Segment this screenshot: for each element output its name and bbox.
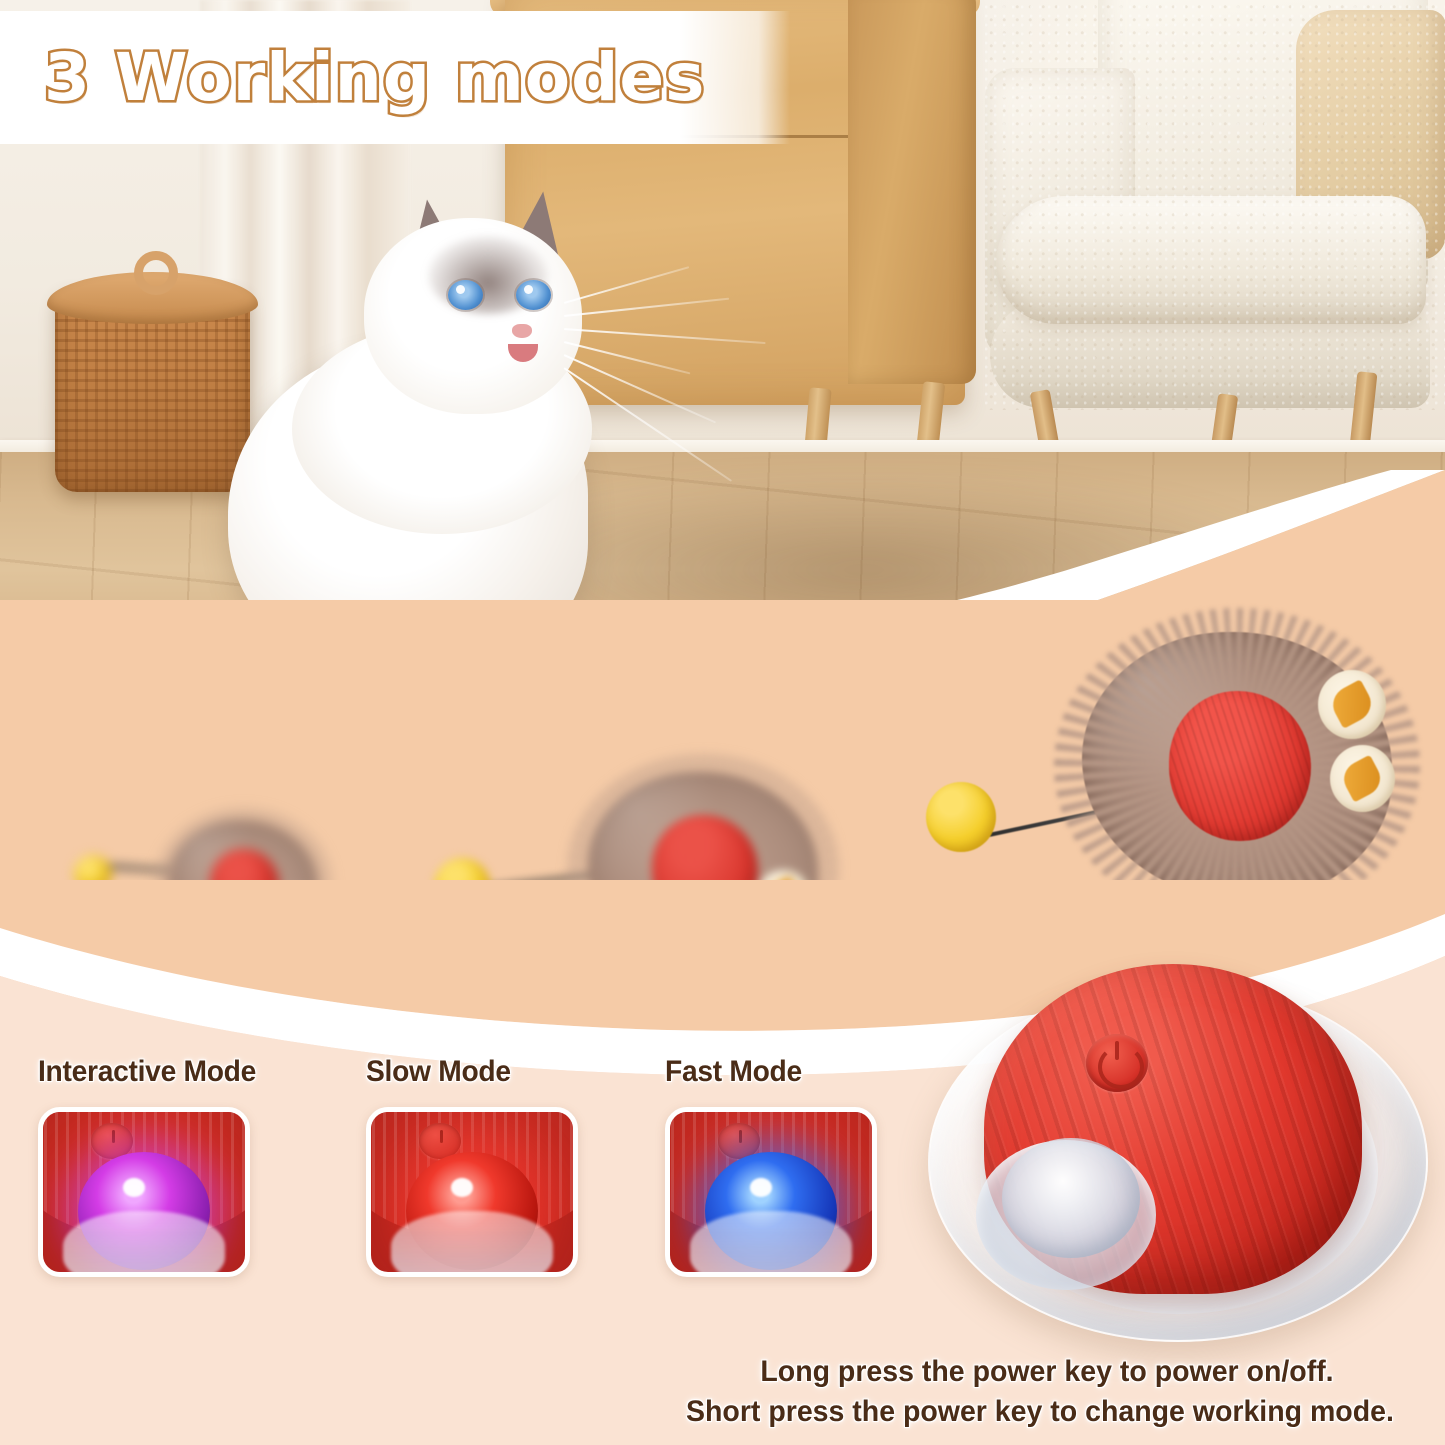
mode-thumbnail-slow[interactable] [366, 1107, 578, 1277]
cat-eye-left [448, 280, 483, 310]
red-ball [652, 815, 758, 925]
working-modes-list: Interactive Mode Slow Mode Fast Mode [0, 1055, 900, 1355]
toy-ear [285, 916, 315, 945]
sideboard-side-panel [848, 0, 976, 384]
instruction-line-2: Short press the power key to change work… [686, 1392, 1408, 1432]
armchair-seat-cushion [996, 196, 1426, 324]
mode-card-fast[interactable]: Fast Mode [665, 1055, 877, 1277]
product-infographic: Interactive Mode Slow Mode Fast Mode [0, 0, 1445, 1445]
red-ball [1169, 691, 1312, 841]
red-ball [210, 849, 279, 922]
toy-ear [1330, 745, 1395, 812]
mode-label-interactive: Interactive Mode [38, 1055, 256, 1089]
yellow-pompom [926, 782, 996, 852]
instruction-line-1: Long press the power key to power on/off… [686, 1352, 1408, 1392]
rattan-basket-handle [134, 251, 178, 295]
yellow-pompom [74, 855, 112, 893]
toy-small [168, 820, 318, 950]
ragdoll-cat [196, 174, 716, 674]
header-banner: 3 Working modes [0, 11, 790, 144]
page-title: 3 Working modes [44, 39, 705, 116]
mode-thumbnail-fast[interactable] [665, 1107, 877, 1277]
clear-base [690, 1211, 852, 1277]
mode-thumbnail-interactive[interactable] [38, 1107, 250, 1277]
toy-ear [1318, 670, 1386, 740]
yellow-pompom [434, 858, 490, 914]
hero-product-image [928, 958, 1428, 1348]
toy-medium [588, 772, 818, 968]
mode-card-interactive[interactable]: Interactive Mode [38, 1055, 270, 1277]
power-icon[interactable] [1086, 1034, 1148, 1092]
drive-wheel [1002, 1138, 1140, 1258]
mode-label-fast: Fast Mode [665, 1055, 864, 1089]
cat-whiskers [564, 302, 784, 422]
cat-nose [512, 324, 532, 338]
toy-ear [767, 913, 813, 956]
mode-card-slow[interactable]: Slow Mode [366, 1055, 578, 1277]
toy-ear [758, 870, 809, 917]
toy-large [1082, 632, 1392, 900]
clear-base [63, 1211, 225, 1277]
mode-label-slow: Slow Mode [366, 1055, 565, 1089]
instruction-text-block: Long press the power key to power on/off… [667, 1352, 1427, 1431]
cat-eye-right [516, 280, 551, 310]
clear-base [391, 1211, 553, 1277]
